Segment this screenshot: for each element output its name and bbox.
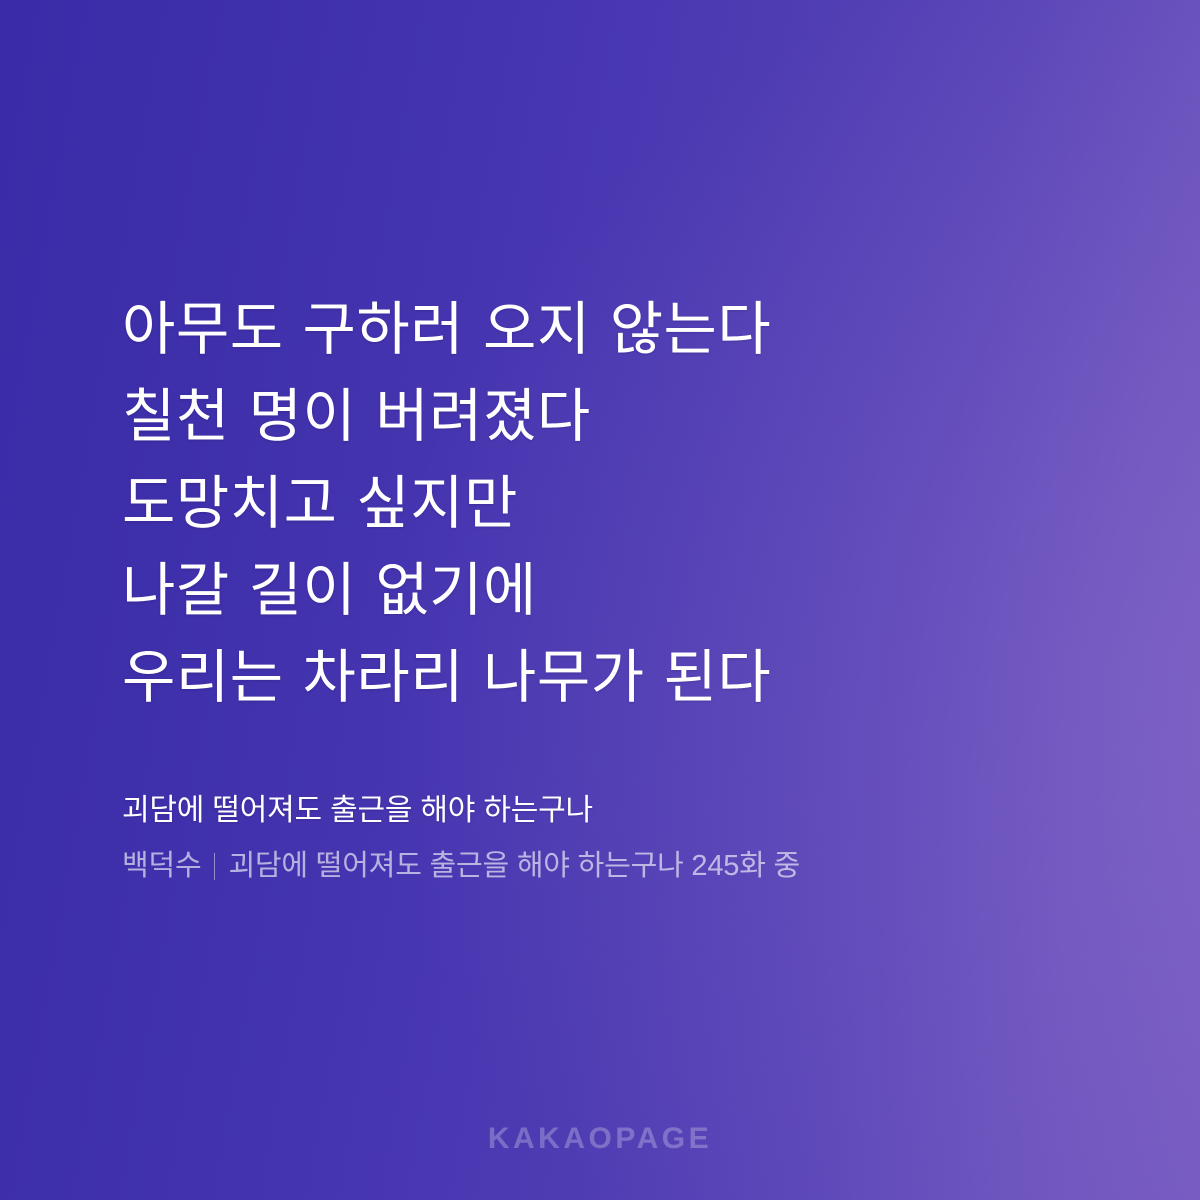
credit-line: 백덕수 괴담에 떨어져도 출근을 해야 하는구나 245화 중 — [122, 845, 1110, 887]
quote-card: 아무도 구하러 오지 않는다 칠천 명이 버려졌다 도망치고 싶지만 나갈 길이… — [0, 0, 1200, 1200]
kakaopage-wordmark: KAKAOPAGE — [0, 1122, 1200, 1156]
meta-block: 괴담에 떨어져도 출근을 해야 하는구나 백덕수 괴담에 떨어져도 출근을 해야… — [122, 789, 1110, 887]
credit-source: 괴담에 떨어져도 출근을 해야 하는구나 245화 중 — [228, 845, 800, 887]
quote-block: 아무도 구하러 오지 않는다 칠천 명이 버려졌다 도망치고 싶지만 나갈 길이… — [122, 286, 1110, 721]
card-content: 아무도 구하러 오지 않는다 칠천 명이 버려졌다 도망치고 싶지만 나갈 길이… — [122, 286, 1110, 887]
quote-line: 우리는 차라리 나무가 된다 — [122, 634, 1110, 721]
credit-author: 백덕수 — [122, 845, 201, 887]
quote-line: 나갈 길이 없기에 — [122, 547, 1110, 634]
quote-line: 도망치고 싶지만 — [122, 460, 1110, 547]
quote-line: 아무도 구하러 오지 않는다 — [122, 286, 1110, 373]
quote-line: 칠천 명이 버려졌다 — [122, 373, 1110, 460]
credit-separator-icon — [214, 853, 215, 880]
work-title: 괴담에 떨어져도 출근을 해야 하는구나 — [122, 789, 1110, 833]
